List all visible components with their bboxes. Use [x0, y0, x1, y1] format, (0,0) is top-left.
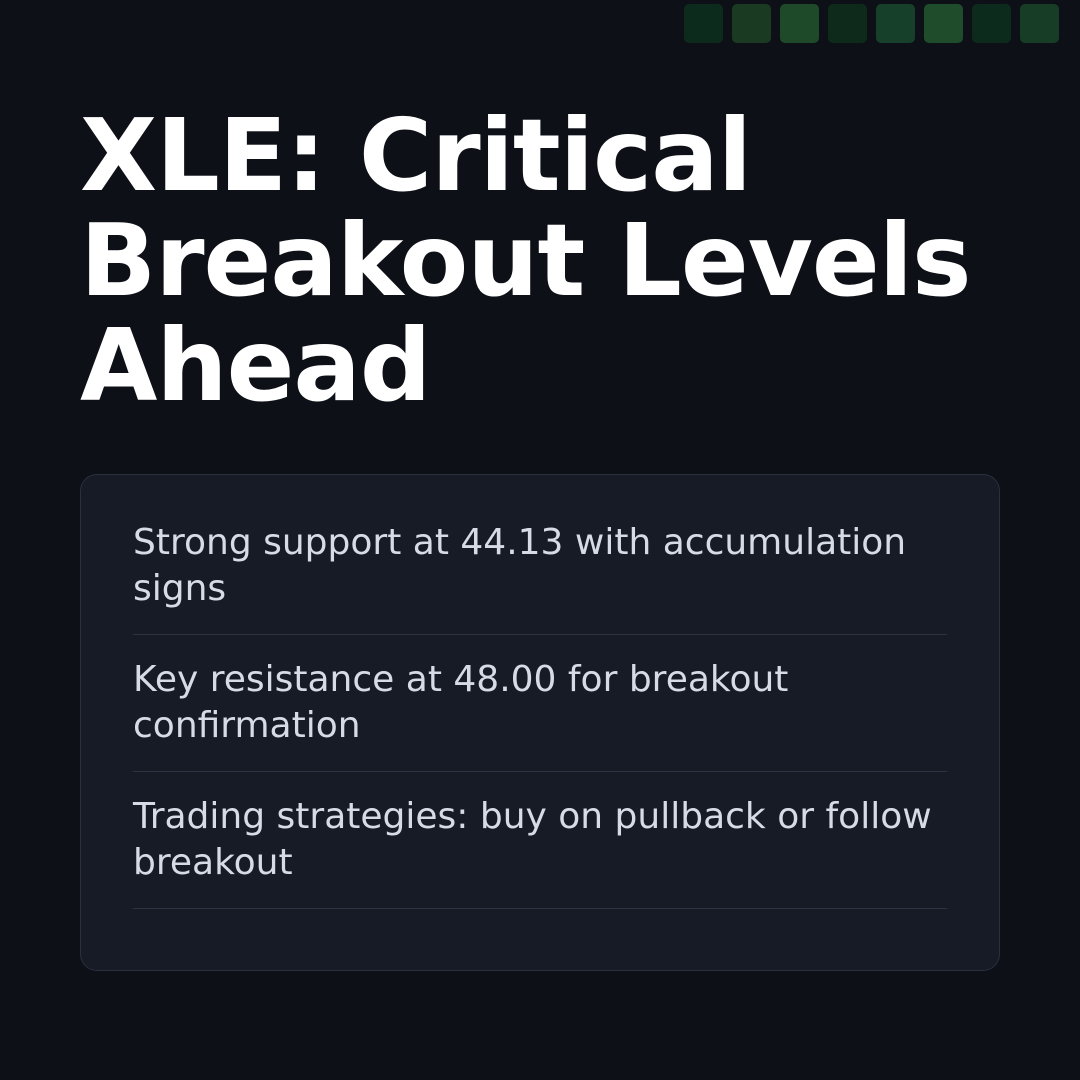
- accent-square-8: [1020, 4, 1059, 43]
- accent-square-strip: [684, 4, 1059, 43]
- insight-list: Strong support at 44.13 with accumulatio…: [133, 475, 947, 909]
- accent-square-4: [828, 4, 867, 43]
- accent-square-5: [876, 4, 915, 43]
- accent-square-1: [684, 4, 723, 43]
- insight-item: Trading strategies: buy on pullback or f…: [133, 794, 947, 909]
- insight-card: Strong support at 44.13 with accumulatio…: [80, 474, 1000, 971]
- accent-square-3: [780, 4, 819, 43]
- insight-item: Key resistance at 48.00 for breakout con…: [133, 657, 947, 772]
- accent-square-7: [972, 4, 1011, 43]
- page-title: XLE: Critical Breakout Levels Ahead: [80, 103, 980, 418]
- insight-item: Strong support at 44.13 with accumulatio…: [133, 520, 947, 635]
- accent-square-2: [732, 4, 771, 43]
- accent-square-6: [924, 4, 963, 43]
